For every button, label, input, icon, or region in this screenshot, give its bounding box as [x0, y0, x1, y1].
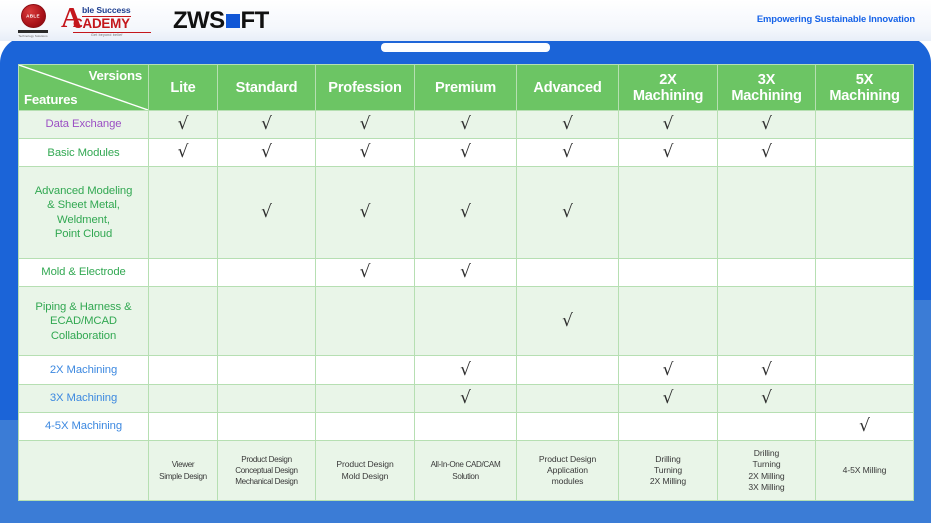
slide-root: Technology Solutions A ble Success CADEM…	[0, 0, 931, 523]
feature-label-piping-harness-ecad-mcad-collaboration: Piping & Harness &ECAD/MCADCollaboration	[19, 287, 149, 356]
column-header-line: Machining	[818, 88, 911, 104]
summary-cell-line: Mechanical Design	[220, 476, 313, 487]
check-icon: √	[360, 262, 371, 282]
empty-cell	[415, 412, 517, 440]
feature-label-line: Weldment,	[21, 213, 146, 227]
table-corner-cell: Versions Features	[19, 65, 149, 111]
check-mark-cell: √	[415, 259, 517, 287]
check-icon: √	[178, 114, 189, 134]
empty-cell	[149, 412, 218, 440]
empty-cell	[149, 287, 218, 356]
feature-label-line: & Sheet Metal,	[21, 198, 146, 212]
empty-cell	[517, 259, 619, 287]
check-mark-cell: √	[316, 259, 415, 287]
summary-cell-line: modules	[519, 476, 616, 487]
summary-cell: DrillingTurning2X Milling3X Milling	[718, 441, 816, 501]
column-header-line: Premium	[417, 80, 514, 96]
check-mark-cell: √	[619, 384, 718, 412]
column-header-2x-machining: 2XMachining	[619, 65, 718, 111]
column-header-line: 2X	[621, 72, 715, 88]
check-icon: √	[360, 202, 371, 222]
check-mark-cell: √	[718, 384, 816, 412]
check-mark-cell: √	[517, 287, 619, 356]
empty-cell	[149, 356, 218, 384]
empty-cell	[149, 384, 218, 412]
column-header-line: 3X	[720, 72, 813, 88]
check-icon: √	[261, 202, 272, 222]
summary-cell-line: Product Design	[318, 459, 412, 470]
empty-cell	[718, 412, 816, 440]
check-icon: √	[663, 360, 674, 380]
summary-cell-line: 3X Milling	[720, 482, 813, 493]
check-icon: √	[761, 114, 772, 134]
table-row: 2X Machining√√√	[19, 356, 914, 384]
column-header-line: Standard	[220, 80, 313, 96]
empty-cell	[316, 287, 415, 356]
empty-cell	[619, 259, 718, 287]
empty-cell	[218, 412, 316, 440]
column-header-line: Machining	[621, 88, 715, 104]
check-mark-cell: √	[316, 167, 415, 259]
summary-cell-line: Drilling	[720, 448, 813, 459]
empty-cell	[718, 287, 816, 356]
academy-logo-tagline: Get beyond belief	[91, 33, 123, 37]
check-mark-cell: √	[619, 356, 718, 384]
header-tagline: Empowering Sustainable Innovation	[757, 13, 915, 24]
column-header-5x-machining: 5XMachining	[816, 65, 914, 111]
check-mark-cell: √	[816, 412, 914, 440]
check-icon: √	[360, 114, 371, 134]
check-icon: √	[360, 142, 371, 162]
check-icon: √	[460, 202, 471, 222]
summary-cell: Product DesignMold Design	[316, 441, 415, 501]
check-mark-cell: √	[218, 167, 316, 259]
feature-label-2x-machining: 2X Machining	[19, 356, 149, 384]
check-icon: √	[663, 114, 674, 134]
column-header-standard: Standard	[218, 65, 316, 111]
check-mark-cell: √	[415, 167, 517, 259]
check-mark-cell: √	[415, 384, 517, 412]
feature-label-line: Mold & Electrode	[21, 265, 146, 279]
summary-cell-line: Mold Design	[318, 471, 412, 482]
empty-cell	[718, 167, 816, 259]
empty-cell	[316, 356, 415, 384]
check-mark-cell: √	[149, 139, 218, 167]
academy-logo-top-text: ble Success	[82, 5, 131, 17]
table-header-row: Versions Features LiteStandardProfession…	[19, 65, 914, 111]
table-row: Advanced Modeling& Sheet Metal,Weldment,…	[19, 167, 914, 259]
check-mark-cell: √	[517, 139, 619, 167]
feature-label-line: Point Cloud	[21, 227, 146, 241]
check-icon: √	[460, 388, 471, 408]
check-icon: √	[859, 416, 870, 436]
feature-label-line: ECAD/MCAD	[21, 314, 146, 328]
empty-cell	[619, 412, 718, 440]
summary-cell-line: Viewer	[151, 459, 215, 470]
version-comparison-table: Versions Features LiteStandardProfession…	[18, 64, 914, 501]
check-mark-cell: √	[619, 139, 718, 167]
version-comparison-table-wrapper: Versions Features LiteStandardProfession…	[18, 64, 913, 501]
corner-features-label: Features	[24, 92, 77, 107]
zwsoft-logo: ZWS FT	[173, 7, 269, 35]
check-mark-cell: √	[517, 167, 619, 259]
check-icon: √	[460, 262, 471, 282]
corner-versions-label: Versions	[89, 68, 142, 83]
able-logo-subtitle: Technology Solutions	[18, 34, 47, 38]
zwsoft-logo-suffix: FT	[241, 7, 269, 35]
check-mark-cell: √	[415, 139, 517, 167]
empty-cell	[816, 111, 914, 139]
column-header-line: Lite	[151, 80, 215, 96]
check-mark-cell: √	[415, 111, 517, 139]
empty-cell	[415, 287, 517, 356]
check-mark-cell: √	[316, 139, 415, 167]
empty-cell	[619, 167, 718, 259]
able-success-academy-logo: A ble Success CADEMY Get beyond belief	[61, 3, 162, 39]
check-mark-cell: √	[218, 111, 316, 139]
check-icon: √	[761, 360, 772, 380]
empty-cell	[816, 384, 914, 412]
summary-cell-line: 4-5X Milling	[818, 465, 911, 476]
frame-notch	[381, 43, 550, 52]
check-mark-cell: √	[415, 356, 517, 384]
check-mark-cell: √	[218, 139, 316, 167]
column-header-advanced: Advanced	[517, 65, 619, 111]
table-row: 4-5X Machining√	[19, 412, 914, 440]
empty-cell	[517, 384, 619, 412]
summary-cell-line: Application	[519, 465, 616, 476]
feature-label-line: Collaboration	[21, 329, 146, 343]
check-icon: √	[562, 202, 573, 222]
summary-cell-line: 2X Milling	[720, 471, 813, 482]
column-header-line: 5X	[818, 72, 911, 88]
summary-cell-line: 2X Milling	[621, 476, 715, 487]
empty-cell	[218, 356, 316, 384]
column-header-line: Profession	[318, 80, 412, 96]
empty-cell	[517, 412, 619, 440]
summary-row-feature-cell	[19, 441, 149, 501]
feature-label-basic-modules: Basic Modules	[19, 139, 149, 167]
slide-header: Technology Solutions A ble Success CADEM…	[0, 0, 931, 41]
check-mark-cell: √	[316, 111, 415, 139]
empty-cell	[316, 384, 415, 412]
table-row: Mold & Electrode√√	[19, 259, 914, 287]
able-seal-icon	[21, 4, 46, 28]
feature-label-3x-machining: 3X Machining	[19, 384, 149, 412]
empty-cell	[816, 356, 914, 384]
check-icon: √	[562, 311, 573, 331]
check-icon: √	[562, 142, 573, 162]
check-mark-cell: √	[619, 111, 718, 139]
summary-cell: All-In-One CAD/CAMSolution	[415, 441, 517, 501]
check-mark-cell: √	[149, 111, 218, 139]
feature-label-advanced-modeling-sheet-metal-weldment-point-cloud: Advanced Modeling& Sheet Metal,Weldment,…	[19, 167, 149, 259]
table-row: Data Exchange√√√√√√√	[19, 111, 914, 139]
check-mark-cell: √	[718, 111, 816, 139]
feature-label-line: Basic Modules	[21, 146, 146, 160]
summary-cell-line: Product Design	[519, 454, 616, 465]
check-icon: √	[460, 114, 471, 134]
logo-row: Technology Solutions A ble Success CADEM…	[14, 3, 269, 39]
column-header-line: Advanced	[519, 80, 616, 96]
empty-cell	[149, 259, 218, 287]
check-icon: √	[460, 142, 471, 162]
feature-label-line: 3X Machining	[21, 391, 146, 405]
check-mark-cell: √	[718, 139, 816, 167]
summary-cell-line: Turning	[621, 465, 715, 476]
check-icon: √	[761, 142, 772, 162]
feature-label-line: Advanced Modeling	[21, 184, 146, 198]
feature-label-line: Data Exchange	[21, 117, 146, 131]
feature-label-line: 4-5X Machining	[21, 419, 146, 433]
check-mark-cell: √	[517, 111, 619, 139]
summary-cell: Product DesignApplicationmodules	[517, 441, 619, 501]
feature-label-4-5x-machining: 4-5X Machining	[19, 412, 149, 440]
table-body: Data Exchange√√√√√√√Basic Modules√√√√√√√…	[19, 111, 914, 501]
summary-cell-line: Drilling	[621, 454, 715, 465]
check-mark-cell: √	[718, 356, 816, 384]
feature-label-line: Piping & Harness &	[21, 300, 146, 314]
check-icon: √	[261, 142, 272, 162]
empty-cell	[816, 139, 914, 167]
able-seal-ribbon	[18, 30, 48, 33]
column-header-line: Machining	[720, 88, 813, 104]
empty-cell	[149, 167, 218, 259]
feature-label-mold-electrode: Mold & Electrode	[19, 259, 149, 287]
summary-cell-line: Product Design	[220, 454, 313, 465]
summary-cell: ViewerSimple Design	[149, 441, 218, 501]
academy-logo-main-text: CADEMY	[73, 17, 130, 31]
summary-cell-line: Turning	[720, 459, 813, 470]
empty-cell	[718, 259, 816, 287]
empty-cell	[816, 259, 914, 287]
column-header-lite: Lite	[149, 65, 218, 111]
empty-cell	[218, 259, 316, 287]
empty-cell	[218, 384, 316, 412]
summary-cell-line: All-In-One CAD/CAM	[417, 459, 514, 470]
zwsoft-logo-prefix: ZWS	[173, 7, 225, 35]
check-icon: √	[261, 114, 272, 134]
check-icon: √	[460, 360, 471, 380]
column-header-3x-machining: 3XMachining	[718, 65, 816, 111]
empty-cell	[517, 356, 619, 384]
check-icon: √	[761, 388, 772, 408]
summary-cell-line: Solution	[417, 471, 514, 482]
summary-cell-line: Conceptual Design	[220, 465, 313, 476]
blue-frame-right-band	[911, 300, 931, 523]
table-row: Basic Modules√√√√√√√	[19, 139, 914, 167]
summary-cell-line: Simple Design	[151, 471, 215, 482]
empty-cell	[218, 287, 316, 356]
empty-cell	[816, 287, 914, 356]
zwsoft-square-icon	[226, 14, 240, 28]
check-icon: √	[178, 142, 189, 162]
summary-cell: 4-5X Milling	[816, 441, 914, 501]
check-icon: √	[663, 142, 674, 162]
empty-cell	[816, 167, 914, 259]
empty-cell	[316, 412, 415, 440]
check-icon: √	[663, 388, 674, 408]
feature-label-line: 2X Machining	[21, 363, 146, 377]
table-row: Piping & Harness &ECAD/MCADCollaboration…	[19, 287, 914, 356]
able-logo: Technology Solutions	[14, 4, 52, 38]
summary-cell: Product DesignConceptual DesignMechanica…	[218, 441, 316, 501]
table-row: 3X Machining√√√	[19, 384, 914, 412]
empty-cell	[619, 287, 718, 356]
check-icon: √	[562, 114, 573, 134]
column-header-profession: Profession	[316, 65, 415, 111]
table-summary-row: ViewerSimple DesignProduct DesignConcept…	[19, 441, 914, 501]
feature-label-data-exchange: Data Exchange	[19, 111, 149, 139]
column-header-premium: Premium	[415, 65, 517, 111]
summary-cell: DrillingTurning2X Milling	[619, 441, 718, 501]
table-header: Versions Features LiteStandardProfession…	[19, 65, 914, 111]
